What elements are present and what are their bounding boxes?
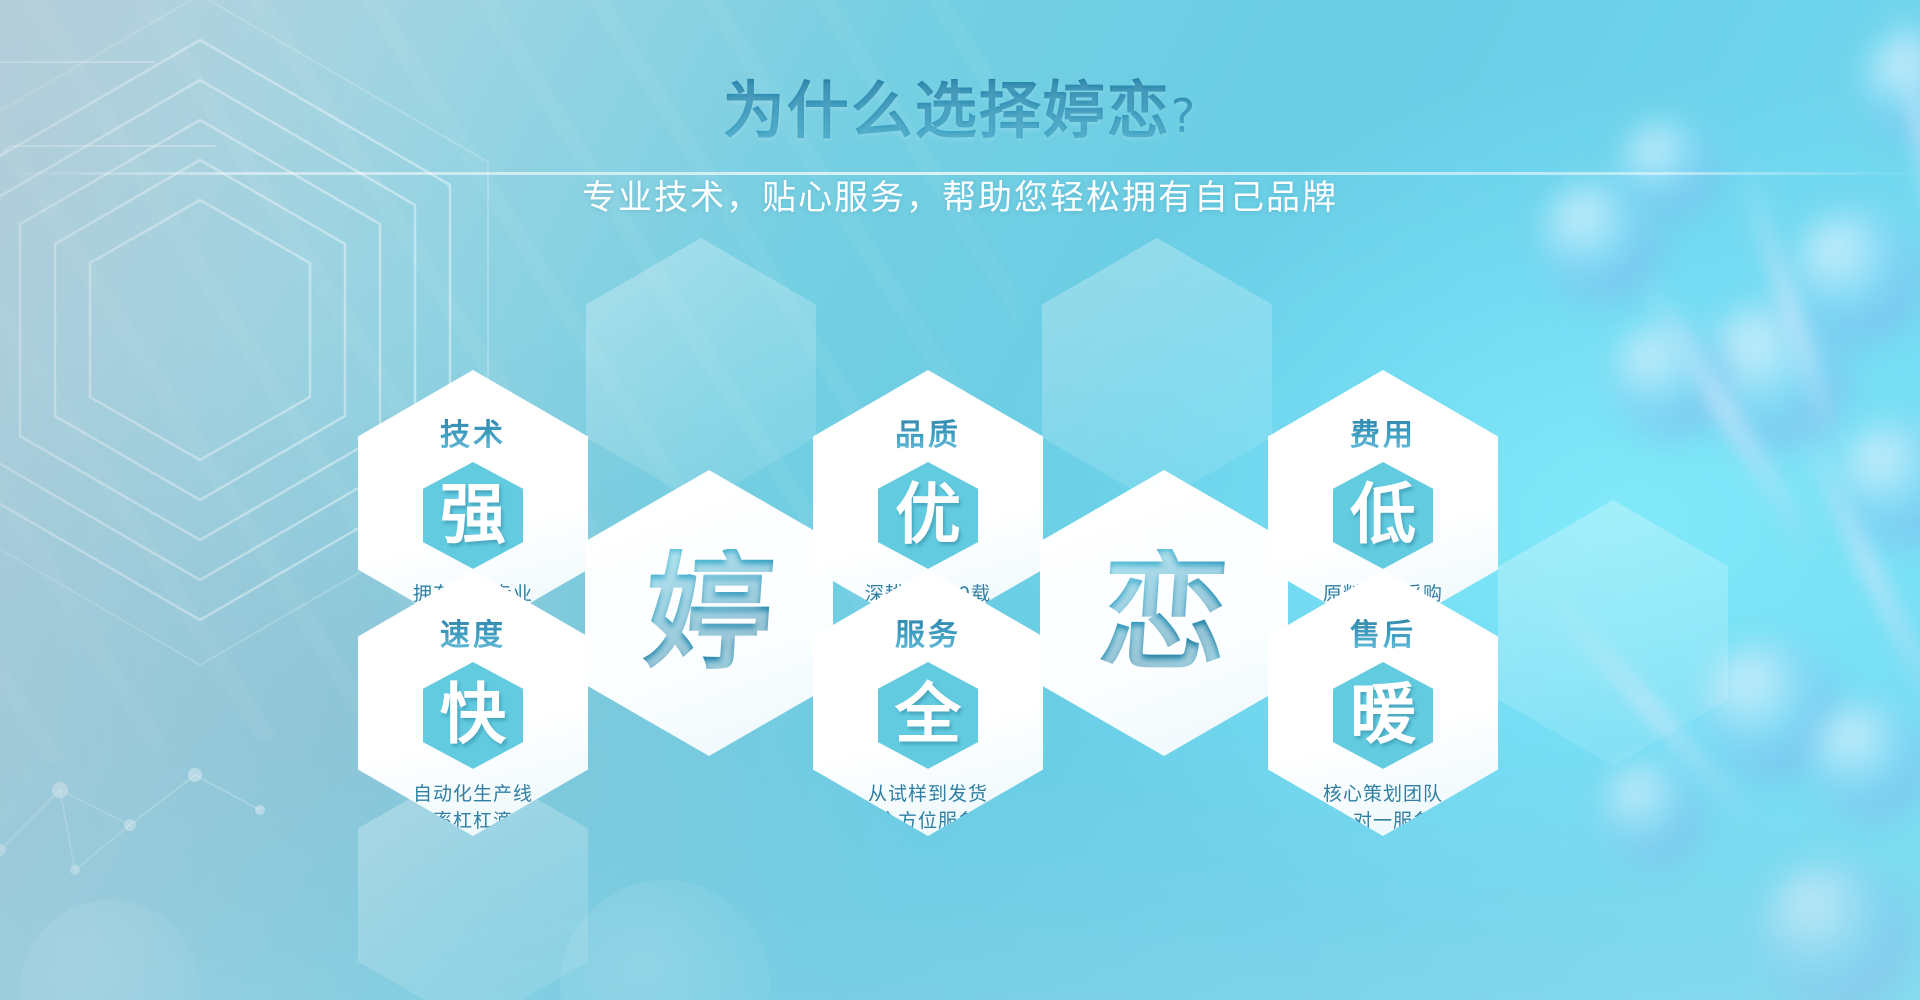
brand-glyph-lian: 恋 <box>1096 549 1233 677</box>
ghost-hexagon <box>1042 238 1272 504</box>
feature-card-badge: 优 <box>878 462 978 569</box>
feature-card-badge: 快 <box>423 662 523 769</box>
feature-card-aftersales[interactable]: 售后 暖 核心策划团队 一对一服务 <box>1268 570 1498 836</box>
promo-banner: 为什么选择婷恋? 专业技术，贴心服务，帮助您轻松拥有自己品牌 技术 强 拥有多名… <box>0 0 1920 1000</box>
feature-card-description: 核心策划团队 一对一服务 <box>1323 781 1443 836</box>
feature-card-desc-line-2: 全方位服务 <box>868 808 988 836</box>
feature-card-title: 费用 <box>1350 410 1416 454</box>
feature-card-badge-char: 快 <box>440 682 506 748</box>
feature-card-badge-char: 暖 <box>1350 682 1416 748</box>
brand-hexagon-lian: 恋 <box>1040 470 1288 756</box>
feature-card-title: 服务 <box>895 610 961 654</box>
feature-card-badge-char: 强 <box>440 482 506 548</box>
feature-card-desc-line-1: 核心策划团队 <box>1323 781 1443 809</box>
feature-card-desc-line-1: 从试样到发货 <box>868 781 988 809</box>
feature-card-title: 品质 <box>895 410 961 454</box>
feature-card-badge: 强 <box>423 462 523 569</box>
feature-card-title: 售后 <box>1350 610 1416 654</box>
feature-card-title: 技术 <box>440 410 506 454</box>
feature-hexagon-grid: 技术 强 拥有多名专业 化妆品工程师 速度 快 自动化生产线 效率杠杠滴！ 婷 <box>0 0 1920 1000</box>
brand-hexagon-ting: 婷 <box>585 470 833 756</box>
feature-card-service[interactable]: 服务 全 从试样到发货 全方位服务 <box>813 570 1043 836</box>
feature-card-badge: 全 <box>878 662 978 769</box>
feature-card-badge-char: 优 <box>895 482 961 548</box>
brand-glyph-ting: 婷 <box>641 549 778 677</box>
feature-card-desc-line-2: 一对一服务 <box>1323 808 1443 836</box>
feature-card-desc-line-1: 自动化生产线 <box>413 781 533 809</box>
feature-card-badge: 低 <box>1333 462 1433 569</box>
ghost-hexagon <box>1498 500 1728 766</box>
feature-card-title: 速度 <box>440 610 506 654</box>
feature-card-speed[interactable]: 速度 快 自动化生产线 效率杠杠滴！ <box>358 570 588 836</box>
feature-card-badge-char: 全 <box>895 682 961 748</box>
ghost-hexagon <box>586 238 816 504</box>
feature-card-badge: 暖 <box>1333 662 1433 769</box>
feature-card-badge-char: 低 <box>1350 482 1416 548</box>
feature-card-description: 从试样到发货 全方位服务 <box>868 781 988 836</box>
